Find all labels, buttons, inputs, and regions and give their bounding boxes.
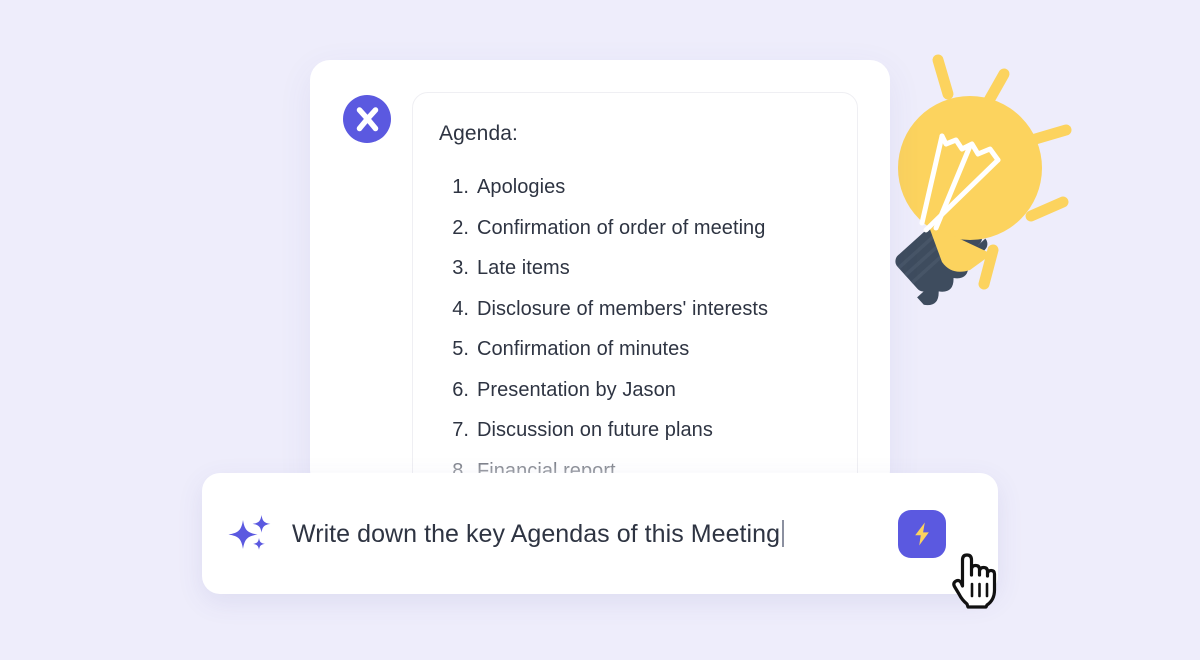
screen-root: Agenda: 1. Apologies 2. Confirmation of …	[0, 0, 1200, 660]
list-item-label: Apologies	[477, 176, 565, 198]
message-bubble: Agenda: 1. Apologies 2. Confirmation of …	[412, 92, 858, 490]
x-mark-icon	[343, 95, 391, 143]
list-item: 4. Disclosure of members' interests	[439, 298, 831, 320]
list-item-label: Discussion on future plans	[477, 419, 713, 441]
list-item: 7. Discussion on future plans	[439, 419, 831, 441]
prompt-input-value: Write down the key Agendas of this Meeti…	[292, 520, 780, 548]
list-item-label: Confirmation of order of meeting	[477, 217, 765, 239]
list-item: 5. Confirmation of minutes	[439, 338, 831, 360]
list-item: 6. Presentation by Jason	[439, 379, 831, 401]
list-item: 1. Apologies	[439, 176, 831, 198]
list-item-index: 7.	[439, 419, 469, 441]
agenda-heading: Agenda:	[439, 121, 831, 146]
prompt-text-wrap[interactable]: Write down the key Agendas of this Meeti…	[292, 514, 898, 554]
list-item-label: Late items	[477, 257, 570, 279]
lightbulb-icon	[880, 48, 1090, 318]
list-item-label: Presentation by Jason	[477, 379, 676, 401]
prompt-input[interactable]: Write down the key Agendas of this Meeti…	[292, 514, 784, 554]
list-item-index: 1.	[439, 176, 469, 198]
list-item-label: Disclosure of members' interests	[477, 298, 768, 320]
list-item: 2. Confirmation of order of meeting	[439, 217, 831, 239]
assistant-response-card: Agenda: 1. Apologies 2. Confirmation of …	[310, 60, 890, 490]
sparkles-icon	[226, 508, 278, 560]
send-button[interactable]	[898, 510, 946, 558]
list-item-index: 6.	[439, 379, 469, 401]
prompt-input-bar[interactable]: Write down the key Agendas of this Meeti…	[202, 473, 998, 594]
lightning-bolt-icon	[908, 520, 936, 548]
lightbulb-glass	[898, 96, 1042, 240]
agenda-list: 1. Apologies 2. Confirmation of order of…	[439, 176, 831, 482]
list-item-index: 5.	[439, 338, 469, 360]
list-item-index: 3.	[439, 257, 469, 279]
list-item-label: Confirmation of minutes	[477, 338, 689, 360]
list-item-index: 2.	[439, 217, 469, 239]
text-caret	[782, 520, 784, 547]
avatar	[343, 95, 391, 143]
lightbulb-illustration	[880, 48, 1090, 318]
list-item: 3. Late items	[439, 257, 831, 279]
list-item-index: 4.	[439, 298, 469, 320]
